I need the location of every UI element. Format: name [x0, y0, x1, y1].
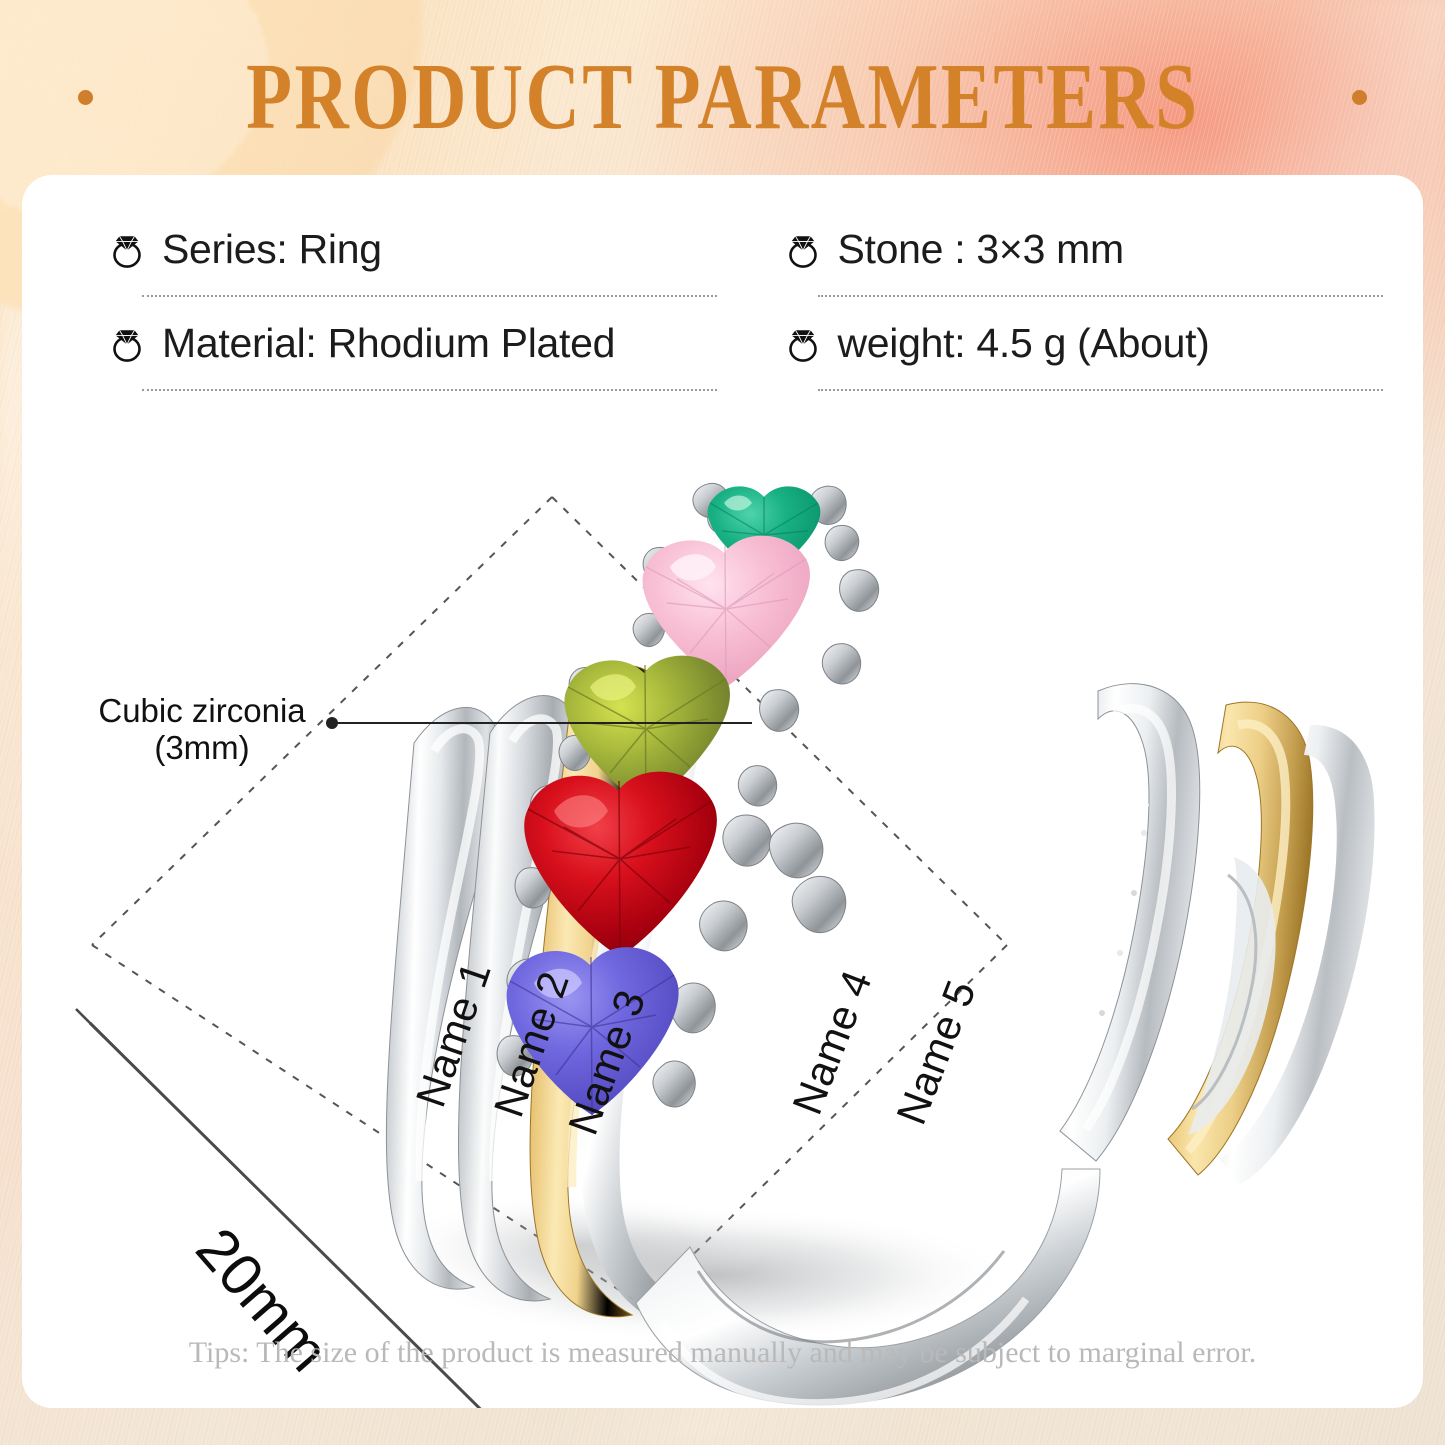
tips-text: Tips: The size of the product is measure…: [22, 1336, 1423, 1370]
spec-row-stone: Stone : 3×3 mm: [776, 203, 1424, 295]
callout-leader-line: [332, 722, 752, 724]
spec-label-stone: Stone : 3×3 mm: [838, 226, 1124, 273]
callout-line-2: (3mm): [77, 730, 327, 767]
spec-divider-4: [818, 389, 1383, 391]
spec-divider-2: [142, 389, 717, 391]
callout-line-1: Cubic zirconia: [77, 693, 327, 730]
product-stage: Cubic zirconia (3mm) 20mm Name 1 Name 2 …: [22, 475, 1423, 1408]
spec-row-weight: weight: 4.5 g (About): [776, 297, 1424, 389]
spec-label-series: Series: Ring: [162, 226, 382, 273]
content-card: Series: Ring Material: Rhodium Plated: [22, 175, 1423, 1408]
spec-column-left: Series: Ring Material: Rhodium Plated: [22, 203, 748, 391]
spec-row-material: Material: Rhodium Plated: [100, 297, 748, 389]
product-parameters-page: PRODUCT PARAMETERS Series: Ring: [0, 0, 1445, 1445]
spec-column-right: Stone : 3×3 mm weight: 4.5 g (About): [748, 203, 1424, 391]
page-title-bar: PRODUCT PARAMETERS: [0, 42, 1445, 152]
page-title: PRODUCT PARAMETERS: [246, 50, 1199, 144]
spec-table: Series: Ring Material: Rhodium Plated: [22, 175, 1423, 391]
prong-emerald-front: [825, 525, 859, 560]
spec-label-material: Material: Rhodium Plated: [162, 320, 615, 367]
diamond-ring-icon: [110, 229, 144, 269]
bullet-dot-left-icon: [78, 90, 93, 105]
spec-label-weight: weight: 4.5 g (About): [838, 320, 1210, 367]
bullet-dot-right-icon: [1352, 90, 1367, 105]
callout-cubic-zirconia: Cubic zirconia (3mm): [77, 693, 327, 767]
diamond-ring-icon: [786, 229, 820, 269]
accent-prong: [769, 823, 845, 932]
diamond-ring-icon: [110, 323, 144, 363]
diamond-ring-icon: [786, 323, 820, 363]
spec-row-series: Series: Ring: [100, 203, 748, 295]
